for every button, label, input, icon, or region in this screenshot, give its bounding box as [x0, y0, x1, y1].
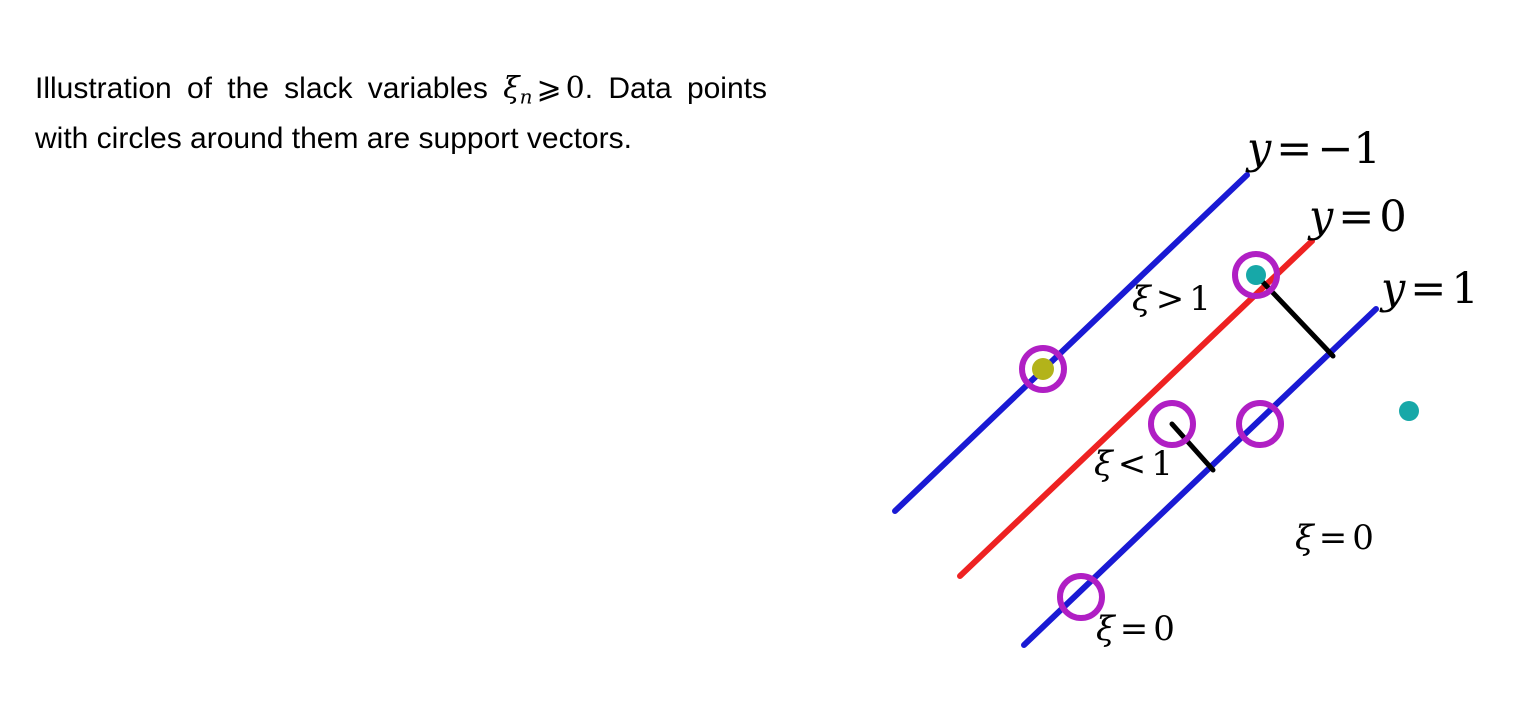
label-value: 1 [1451, 264, 1478, 314]
label-equals-sign: = [1115, 609, 1154, 649]
label-value: 0 [1153, 609, 1175, 649]
data-point-class-b-support [1246, 265, 1266, 285]
figure-page: Illustration of the slack variables ξn⩾0… [0, 0, 1538, 720]
label-equals-sign: = [1405, 264, 1451, 314]
label-y-equals-0: y=0 [1309, 196, 1407, 239]
label-value: 0 [1379, 192, 1406, 242]
label-y-equals-minus-1: y=−1 [1247, 128, 1381, 171]
label-xi-symbol: ξ [1295, 518, 1314, 558]
label-y-variable: y [1247, 124, 1271, 174]
label-equals-sign: = [1271, 124, 1317, 174]
label-value: 1 [1189, 279, 1211, 319]
label-y-equals-1: y=1 [1381, 268, 1479, 311]
label-xi-equals-0-bottom: ξ=0 [1096, 612, 1175, 646]
label-xi-less-than-1: ξ<1 [1094, 447, 1173, 481]
label-equals-sign: = [1314, 518, 1353, 558]
label-y-variable: y [1309, 192, 1333, 242]
label-xi-greater-than-1: ξ>1 [1132, 282, 1211, 316]
label-value: 0 [1352, 518, 1374, 558]
support-vector-ring-on-margin [1239, 403, 1281, 445]
margin-line-y-plus-1 [1024, 309, 1376, 645]
label-value: −1 [1317, 124, 1380, 174]
label-less-than-sign: < [1113, 444, 1152, 484]
diagram-canvas [0, 0, 1538, 720]
label-xi-symbol: ξ [1094, 444, 1113, 484]
label-greater-than-sign: > [1151, 279, 1190, 319]
margin-line-y-minus-1 [895, 175, 1247, 511]
data-point-class-a [1032, 358, 1054, 380]
label-value: 1 [1151, 444, 1173, 484]
label-equals-sign: = [1333, 192, 1379, 242]
svm-slack-diagram [0, 0, 1538, 720]
label-y-variable: y [1381, 264, 1405, 314]
data-point-class-b-free [1399, 401, 1419, 421]
label-xi-equals-0-right: ξ=0 [1295, 521, 1374, 555]
label-xi-symbol: ξ [1096, 609, 1115, 649]
label-xi-symbol: ξ [1132, 279, 1151, 319]
